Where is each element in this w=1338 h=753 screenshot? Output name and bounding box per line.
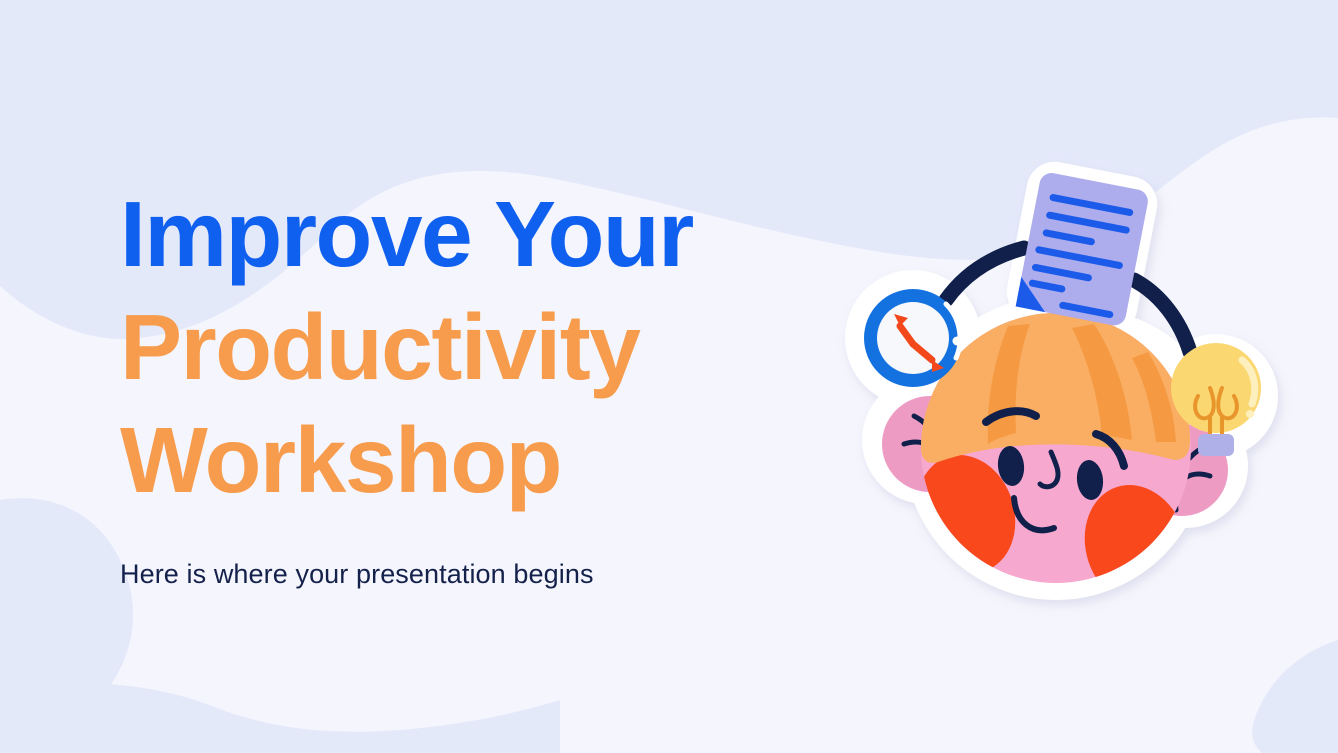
clock-icon: [864, 289, 962, 387]
blob-bottom-right: [1252, 640, 1338, 753]
blob-bottom-wide: [0, 684, 560, 753]
title-block: Improve Your Productivity Workshop Here …: [120, 178, 840, 591]
subtitle: Here is where your presentation begins: [120, 557, 840, 591]
title-line-3: Workshop: [120, 404, 840, 517]
bulb-base: [1198, 434, 1234, 456]
productivity-sticker-illustration: [818, 148, 1293, 623]
blob-bottom-left: [0, 498, 133, 753]
bulb-glass: [1171, 343, 1261, 433]
title-line-1: Improve Your: [120, 178, 840, 291]
title-slide: Improve Your Productivity Workshop Here …: [0, 0, 1338, 753]
title-line-2: Productivity: [120, 291, 840, 404]
